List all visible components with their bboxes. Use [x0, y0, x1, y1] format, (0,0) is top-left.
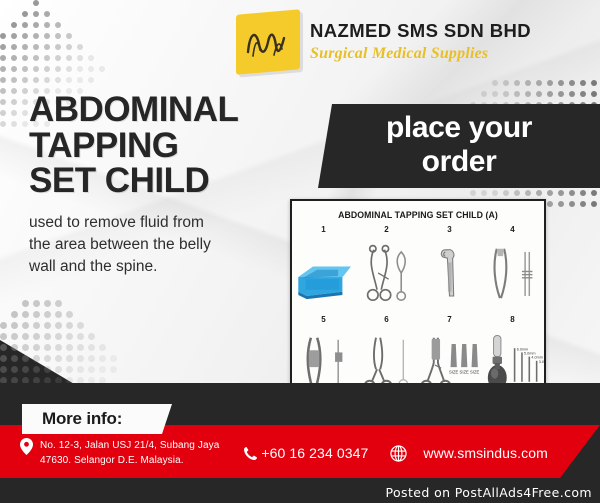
- dissecting-forceps-icon: [481, 237, 544, 313]
- instrument-item: 1: [292, 225, 355, 315]
- brand-name: NAZMED SMS SDN BHD: [310, 22, 531, 41]
- svg-text:SIZE: SIZE: [460, 369, 470, 374]
- nazmed-m-logo-icon: [236, 9, 300, 75]
- map-pin-icon: [20, 438, 33, 455]
- product-card-title: ABDOMINAL TAPPING SET CHILD (A): [302, 210, 534, 221]
- globe-icon: [390, 445, 407, 462]
- description-line-2: the area between the belly: [29, 236, 211, 253]
- more-info-label: More info:: [42, 409, 122, 429]
- website-block[interactable]: www.smsindus.com: [390, 445, 548, 462]
- instrument-number: 5: [292, 315, 355, 324]
- svg-text:3.0mm: 3.0mm: [539, 360, 544, 364]
- svg-text:SIZE: SIZE: [449, 369, 459, 374]
- towel-clamp-icon: [355, 237, 418, 313]
- instrument-number: 4: [481, 225, 544, 234]
- headline-line-3: SET CHILD: [29, 163, 304, 199]
- posted-on-watermark: Posted on PostAllAds4Free.com: [386, 485, 592, 500]
- description-line-1: used to remove fluid from: [29, 214, 204, 231]
- website-url: www.smsindus.com: [423, 445, 548, 461]
- advertisement-poster: NAZMED SMS SDN BHD Surgical Medical Supp…: [0, 0, 600, 503]
- instrument-item: 2: [355, 225, 418, 315]
- instrument-number: 8: [481, 315, 544, 324]
- place-your-order-banner[interactable]: place your order: [318, 104, 600, 188]
- order-banner-line-1: place your: [318, 111, 600, 145]
- phone-number: +60 16 234 0347: [261, 445, 368, 461]
- headline-line-1: ABDOMINAL: [29, 92, 304, 128]
- instrument-number: 7: [418, 315, 481, 324]
- scalpel-handle-icon: [418, 237, 481, 313]
- phone-block[interactable]: +60 16 234 0347: [243, 445, 368, 461]
- order-banner-line-2: order: [318, 145, 600, 179]
- page-title: ABDOMINAL TAPPING SET CHILD: [29, 92, 304, 199]
- instrument-number: 2: [355, 225, 418, 234]
- logo-squiggle-icon: [244, 22, 290, 62]
- instrument-number: 6: [355, 315, 418, 324]
- phone-icon: [243, 446, 258, 461]
- address-block: No. 12-3, Jalan USJ 21/4, Subang Jaya 47…: [20, 438, 219, 468]
- contact-row: No. 12-3, Jalan USJ 21/4, Subang Jaya 47…: [0, 433, 600, 473]
- address-line-1: No. 12-3, Jalan USJ 21/4, Subang Jaya: [40, 440, 219, 451]
- instrument-item: 3: [418, 225, 481, 315]
- instrument-number: 1: [292, 225, 355, 234]
- brand-tagline: Surgical Medical Supplies: [310, 46, 531, 62]
- instrument-tray-icon: [292, 237, 355, 313]
- instrument-number: 3: [418, 225, 481, 234]
- more-info-ribbon: More info:: [22, 404, 172, 434]
- instrument-grid: 1 2: [292, 225, 544, 405]
- brand-header: NAZMED SMS SDN BHD Surgical Medical Supp…: [236, 12, 531, 72]
- address-line-2: 47630. Selangor D.E. Malaysia.: [40, 455, 184, 466]
- svg-text:SIZE: SIZE: [470, 369, 480, 374]
- description-line-3: wall and the spine.: [29, 258, 157, 275]
- product-description: used to remove fluid from the area betwe…: [29, 212, 289, 278]
- headline-line-2: TAPPING: [29, 128, 304, 164]
- instrument-item: 4: [481, 225, 544, 315]
